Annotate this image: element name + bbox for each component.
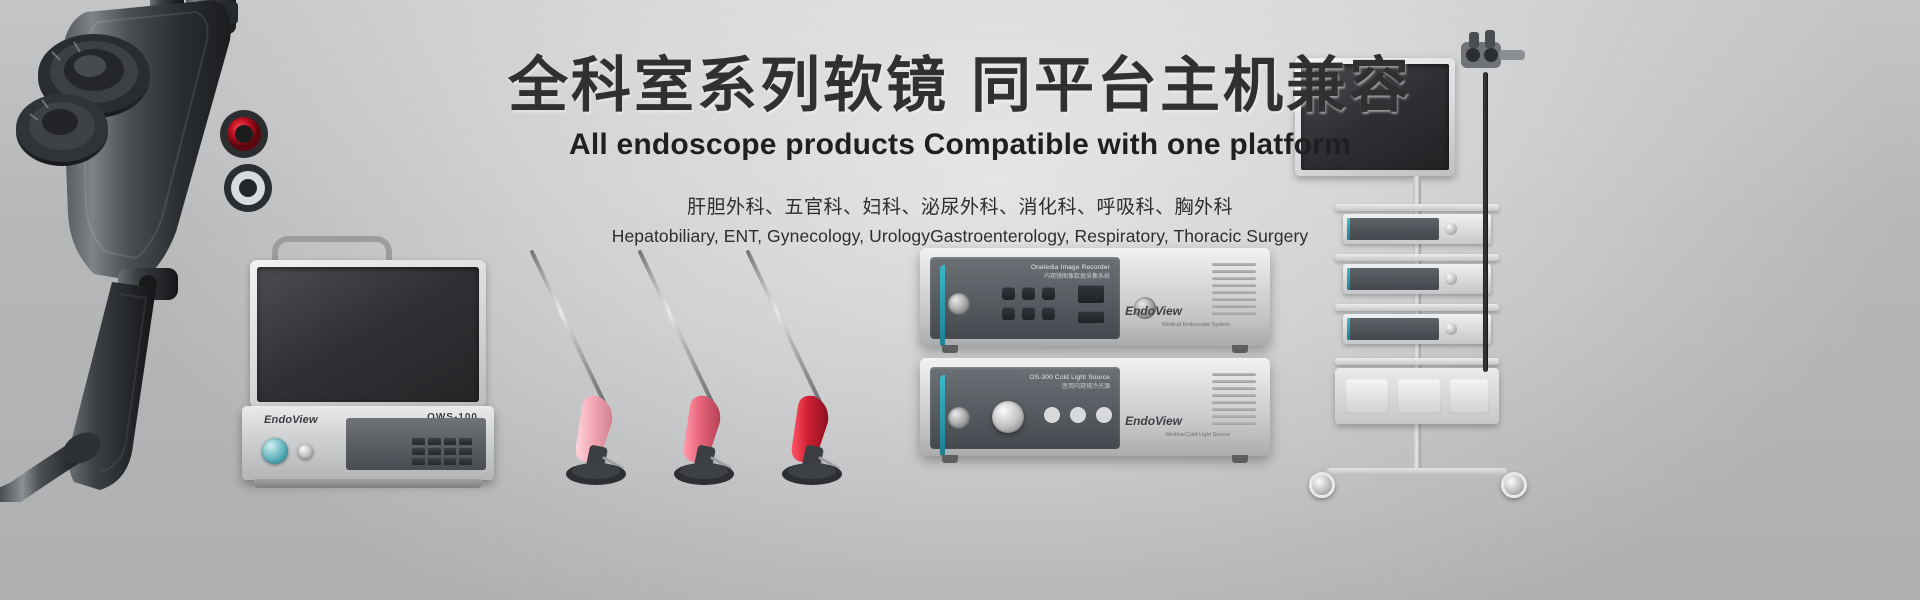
ccu-title-en: Oneledia Image Recorder (1031, 264, 1110, 273)
ccu-title-cn: 医用内窥镜冷光源 (1029, 383, 1110, 391)
ccu-vent-grille (1212, 263, 1256, 333)
laparoscopic-instrument-red (728, 250, 848, 490)
ccu-title-block: OS-300 Cold Light Source 医用内窥镜冷光源 (1029, 374, 1110, 391)
ccu-image-recorder: Oneledia Image Recorder 内窥镜图像数据采集系统 Endo… (920, 248, 1270, 346)
ccu-foot (942, 345, 958, 353)
cart-unit-dial[interactable] (1445, 273, 1457, 285)
instrument-shaft (640, 252, 712, 402)
ccu-title-en: OS-300 Cold Light Source (1029, 374, 1110, 383)
cart-shelf (1335, 358, 1499, 365)
keypad-key[interactable] (459, 458, 472, 465)
keypad-key[interactable] (428, 438, 441, 445)
camera-control-unit-stack: Oneledia Image Recorder 内窥镜图像数据采集系统 Endo… (920, 248, 1270, 464)
cart-accessory-device-1 (1345, 378, 1389, 414)
ccu-button[interactable] (1002, 307, 1015, 320)
ccu-light-guide-port[interactable] (948, 407, 970, 429)
keypad-key[interactable] (444, 438, 457, 445)
cart-accessory-device-3 (1449, 378, 1489, 414)
ccu-power-button[interactable] (1044, 407, 1060, 423)
instrument-shaft (532, 252, 604, 402)
ccu-button[interactable] (1042, 287, 1055, 300)
cart-unit-3 (1343, 314, 1491, 344)
workstation-keypad[interactable] (412, 438, 472, 465)
ccu-scope-port[interactable] (948, 293, 970, 315)
subheadline-english: All endoscope products Compatible with o… (0, 128, 1920, 162)
ccu-button[interactable] (1022, 307, 1035, 320)
ccu-front-panel: OS-300 Cold Light Source 医用内窥镜冷光源 (930, 367, 1120, 449)
workstation-control-panel (346, 418, 486, 470)
cart-caster-wheel-left (1309, 472, 1335, 498)
cart-unit-2 (1343, 264, 1491, 294)
headline-chinese-part2: 同平台主机兼容 (971, 52, 1412, 119)
cart-leg-base (1327, 468, 1507, 476)
ccu-brightness-dial[interactable] (992, 401, 1024, 433)
departments-english: Hepatobiliary, ENT, Gynecology, UrologyG… (0, 226, 1920, 247)
headline-chinese-part1: 全科室系列软镜 (508, 52, 949, 119)
keypad-key[interactable] (428, 458, 441, 465)
ccu-button[interactable] (1042, 307, 1055, 320)
cart-caster-wheel-right (1501, 472, 1527, 498)
headline-text-block: 全科室系列软镜同平台主机兼容 All endoscope products Co… (0, 52, 1920, 247)
ccu-brand-label: EndoView (1125, 414, 1182, 428)
ccu-cold-light-source: OS-300 Cold Light Source 医用内窥镜冷光源 EndoVi… (920, 358, 1270, 456)
keypad-key[interactable] (412, 438, 425, 445)
cart-shelf (1335, 304, 1499, 311)
workstation-knob-small[interactable] (298, 444, 313, 459)
keypad-key[interactable] (459, 438, 472, 445)
cart-shelf (1335, 254, 1499, 261)
cart-accessory-device-2 (1397, 378, 1441, 414)
cart-unit-dial[interactable] (1445, 323, 1457, 335)
ccu-vent-grille (1212, 373, 1256, 443)
ccu-teal-accent-bar (940, 375, 945, 457)
ccu-display-readout (1078, 285, 1104, 303)
ccu-foot (942, 455, 958, 463)
keypad-key[interactable] (412, 448, 425, 455)
ccu-usb-port[interactable] (1078, 311, 1104, 323)
ccu-foot (1232, 455, 1248, 463)
keypad-key[interactable] (412, 458, 425, 465)
ccu-button[interactable] (1022, 287, 1035, 300)
ccu-mode-button[interactable] (1070, 407, 1086, 423)
ccu-standby-button[interactable] (1096, 407, 1112, 423)
keypad-key[interactable] (459, 448, 472, 455)
ccu-title-block: Oneledia Image Recorder 内窥镜图像数据采集系统 (1031, 264, 1110, 281)
laparoscopic-instrument-pink (512, 250, 632, 490)
keypad-key[interactable] (444, 458, 457, 465)
ccu-foot (1232, 345, 1248, 353)
laparoscopic-instrument-salmon (620, 250, 740, 490)
ccu-button[interactable] (1002, 287, 1015, 300)
instrument-shaft (748, 252, 820, 402)
cart-storage-bin (1335, 368, 1499, 424)
keypad-key[interactable] (428, 448, 441, 455)
departments-chinese: 肝胆外科、五官科、妇科、泌尿外科、消化科、呼吸科、胸外科 (0, 192, 1920, 219)
ccu-front-panel: Oneledia Image Recorder 内窥镜图像数据采集系统 (930, 257, 1120, 339)
promo-banner: 全科室系列软镜同平台主机兼容 All endoscope products Co… (0, 0, 1920, 600)
keypad-key[interactable] (444, 448, 457, 455)
ccu-teal-accent-bar (940, 265, 945, 347)
ccu-brand-label: EndoView (1125, 304, 1182, 318)
workstation-monitor-screen (257, 267, 479, 402)
headline-chinese: 全科室系列软镜同平台主机兼容 (0, 52, 1920, 119)
ccu-title-cn: 内窥镜图像数据采集系统 (1031, 273, 1110, 281)
